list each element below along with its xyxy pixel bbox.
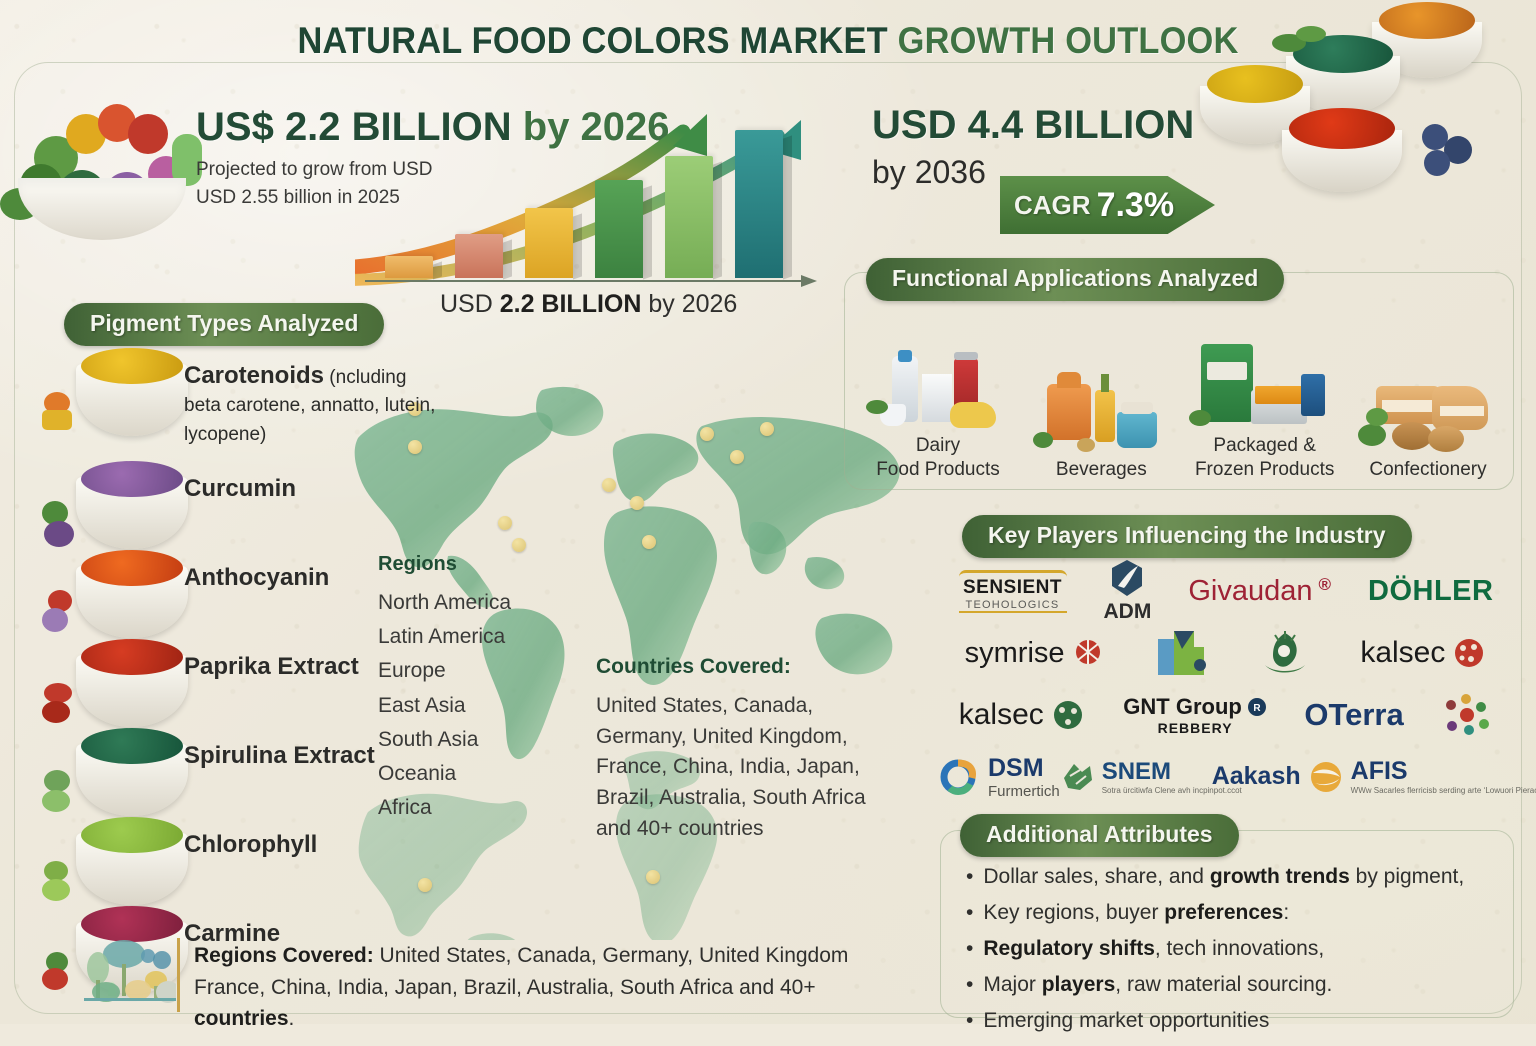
pigment-label: Curcumin [184, 475, 446, 503]
logo-gnt-group: GNT Group R REBBERY [1123, 694, 1267, 736]
attribute-item: • Regulatory shifts, tech innovations, [966, 938, 1506, 959]
bullet-icon: • [966, 1010, 973, 1031]
additional-attributes-header: Additional Attributes [960, 814, 1239, 857]
pigment-bowl [76, 364, 188, 436]
logo-gnt-sub: REBBERY [1158, 720, 1233, 736]
attribute-text: Regulatory shifts, tech innovations, [983, 938, 1324, 959]
logo-adm-name: ADM [1104, 600, 1152, 624]
application-caption: Dairy Food Products [858, 434, 1018, 482]
pigment-bowl [76, 833, 188, 905]
attribute-pre: Major [983, 973, 1041, 996]
logo-dot-cluster [1441, 693, 1493, 737]
chart-caption-suffix: by 2026 [641, 290, 737, 318]
countries-body: United States, Canada, Germany, United K… [596, 691, 906, 844]
application-caption-line2: Food Products [858, 458, 1018, 482]
dot-cluster-icon [1441, 693, 1493, 737]
map-dot [730, 450, 744, 464]
bullet-icon: • [966, 866, 973, 887]
attribute-post: : [1283, 901, 1289, 924]
map-dot [602, 478, 616, 492]
attribute-text: Dollar sales, share, and growth trends b… [983, 866, 1464, 887]
gnt-reg-icon: R [1247, 697, 1267, 717]
stat-right-value: 4.4 BILLION [968, 103, 1195, 147]
pigment-bowl [76, 744, 188, 816]
pigment-name: Paprika Extract [184, 653, 359, 680]
chart-bar [595, 180, 643, 278]
growth-chart [355, 112, 825, 292]
logo-adm: ADM [1104, 558, 1152, 624]
application-item-beverages: Beverages [1021, 342, 1181, 482]
chart-bar [385, 256, 433, 278]
chart-bar [455, 234, 503, 278]
application-caption: Confectionery [1348, 458, 1508, 482]
bullet-icon: • [966, 974, 973, 995]
application-item-packaged: Packaged & Frozen Products [1185, 318, 1345, 482]
regions-covered-line1: Regions Covered: United States, Canada, … [194, 940, 914, 972]
attribute-bold: preferences [1164, 901, 1283, 924]
map-dot [700, 427, 714, 441]
logo-kalsec-name: kalsec [1360, 636, 1445, 670]
key-players-pill-label: Key Players Influencing the Industry [962, 515, 1412, 558]
attribute-text: Emerging market opportunities [983, 1010, 1269, 1031]
pigment-row: Spirulina Extract [36, 738, 436, 827]
chart-bar [665, 156, 713, 278]
regions-covered-line2: France, China, India, Japan, Brazil, Aus… [194, 972, 914, 1035]
pigment-decoration [42, 501, 82, 547]
logo-afis-sub: WWw Sacarles flerricisb serding arte ‘Lo… [1351, 786, 1536, 796]
logo-givaudan-mark: ® [1318, 575, 1331, 595]
map-dot [642, 535, 656, 549]
region-item: Oceania [378, 757, 568, 791]
application-caption: Packaged & Frozen Products [1185, 434, 1345, 482]
key-players-header: Key Players Influencing the Industry [962, 515, 1412, 558]
key-players-grid: SENSIENT TEOHOLOGICS ADM Givaudan ® DÖHL… [940, 560, 1512, 810]
pigment-row: Chlorophyll [36, 827, 436, 916]
pigment-name: Curcumin [184, 475, 296, 502]
regions-covered-line2-bold: countries [194, 1007, 289, 1030]
pigment-types-header: Pigment Types Analyzed [64, 303, 384, 346]
map-dot [646, 870, 660, 884]
page-title-part1: NATURAL FOOD COLORS MARKET [297, 20, 897, 61]
logo-dsm: DSM Furmertich [940, 754, 1060, 800]
beverages-icon [1021, 342, 1181, 452]
logo-oterra: OTerra [1304, 697, 1403, 733]
map-dot [760, 422, 774, 436]
attribute-pre: Key regions, buyer [983, 901, 1164, 924]
application-caption-line2: Frozen Products [1185, 458, 1345, 482]
attribute-pre: Emerging market opportunities [983, 1009, 1269, 1032]
logo-givaudan: Givaudan ® [1188, 575, 1331, 608]
regions-covered-line2-post: . [289, 1007, 295, 1030]
logo-aakash-afis: Aakash AFIS WWw Sacarles flerricisb serd… [1212, 757, 1536, 796]
pigment-row: Paprika Extract [36, 649, 436, 738]
logo-sensient: SENSIENT TEOHOLOGICS [959, 570, 1067, 613]
application-caption-line1: Confectionery [1348, 458, 1508, 482]
pigment-row: Anthocyanin [36, 560, 436, 649]
attribute-post: by pigment, [1350, 865, 1464, 888]
logo-kalsec-bottom: kalsec [959, 698, 1086, 732]
key-players-row: kalsec GNT Group R REBBERY OTerra [940, 684, 1512, 746]
logo-kalsec2-name: kalsec [959, 698, 1044, 732]
attribute-post: , raw material sourcing. [1115, 973, 1332, 996]
pigment-decoration [42, 768, 82, 814]
pigment-bowl [76, 566, 188, 638]
attribute-pre: Dollar sales, share, and [983, 865, 1209, 888]
pigment-name: Spirulina Extract [184, 742, 375, 769]
pigment-decoration [42, 590, 82, 636]
region-item: South Asia [378, 723, 568, 757]
adm-mark-icon [1106, 558, 1148, 598]
key-players-row: SENSIENT TEOHOLOGICS ADM Givaudan ® DÖHL… [940, 560, 1512, 622]
pigment-list: Carotenoids (ncluding beta carotene, ann… [36, 358, 436, 1005]
gnt-mark-icon [1154, 627, 1210, 679]
leaf-emblem-icon [1259, 629, 1311, 677]
logo-gnt-mark [1154, 627, 1210, 679]
pigment-fill [81, 550, 183, 586]
logo-givaudan-name: Givaudan [1188, 575, 1312, 608]
regions-covered-line2-pre: France, China, India, Japan, Brazil, Aus… [194, 976, 816, 999]
region-item: Europe [378, 654, 568, 688]
logo-symrise: symrise [965, 637, 1105, 670]
map-dot [512, 538, 526, 552]
attribute-bold: players [1042, 973, 1116, 996]
logo-dohler: DÖHLER [1368, 575, 1493, 608]
snem-leaf-icon [1060, 760, 1096, 794]
application-caption-line1: Dairy [858, 434, 1018, 458]
logo-aakash-name: Aakash [1212, 762, 1301, 791]
packaged-frozen-icon [1185, 318, 1345, 428]
applications-header: Functional Applications Analyzed [866, 258, 1284, 301]
application-item-confectionery: Confectionery [1348, 342, 1508, 482]
pigment-name: Anthocyanin [184, 564, 329, 591]
chart-caption-prefix: USD [440, 290, 500, 318]
pigment-decoration [42, 388, 82, 434]
application-item-dairy: Dairy Food Products [858, 318, 1018, 482]
pigment-label: Chlorophyll [184, 831, 446, 859]
aakash-globe-icon [1307, 759, 1345, 795]
pigment-row: Carotenoids (ncluding beta carotene, ann… [36, 358, 436, 447]
pigment-fill [81, 461, 183, 497]
pigment-types-pill-label: Pigment Types Analyzed [64, 303, 384, 346]
logo-gnt-name: GNT Group [1123, 694, 1242, 720]
logo-snem-name: SNEM [1102, 758, 1212, 786]
attribute-bold: Regulatory shifts [983, 937, 1155, 960]
stat-right-currency: USD [872, 103, 968, 147]
dsm-mark-icon [940, 756, 982, 798]
key-players-row: symrise kalsec [940, 622, 1512, 684]
logo-leaf-mark [1259, 629, 1311, 677]
logo-oterra-name: OTerra [1304, 697, 1403, 733]
cagr-label: CAGR [1014, 190, 1091, 221]
regions-covered-footer: Regions Covered: United States, Canada, … [84, 938, 914, 1035]
region-item: Latin America [378, 620, 568, 654]
bullet-icon: • [966, 902, 973, 923]
pigment-name: Chlorophyll [184, 831, 317, 858]
pigment-label: Carotenoids (ncluding beta carotene, ann… [184, 362, 446, 447]
logo-snem-sub: Sotra ürcitiwfa Clene avh incpinpot.ccot [1102, 786, 1212, 796]
regions-covered-text: Regions Covered: United States, Canada, … [194, 938, 914, 1035]
region-item: North America [378, 586, 568, 620]
map-dot [630, 496, 644, 510]
additional-attributes-pill-label: Additional Attributes [960, 814, 1239, 857]
confectionery-icon [1348, 342, 1508, 452]
bullet-icon: • [966, 938, 973, 959]
regions-covered-label: Regions Covered: [194, 944, 374, 967]
logo-sensient-name: SENSIENT [963, 577, 1062, 599]
plants-illustration-icon [84, 938, 180, 1012]
kalsec-berry-icon [1451, 636, 1487, 670]
pigment-name: Carotenoids [184, 362, 324, 389]
attribute-bold: growth trends [1210, 865, 1350, 888]
symrise-mark-icon [1071, 638, 1105, 668]
logo-symrise-name: symrise [965, 637, 1065, 670]
pigment-fill [81, 817, 183, 853]
pigment-bowl [76, 655, 188, 727]
kalsec-sphere-icon [1050, 698, 1086, 732]
pigment-decoration [42, 857, 82, 903]
logo-sensient-sub: TEOHOLOGICS [966, 599, 1060, 611]
logo-dsm-name: DSM [988, 754, 1060, 783]
pigment-row: Curcumin [36, 471, 436, 560]
chart-bar [735, 130, 783, 278]
chart-caption: USD 2.2 BILLION by 2026 [440, 290, 840, 319]
attribute-item: • Major players, raw material sourcing. [966, 974, 1506, 995]
logo-dohler-name: DÖHLER [1368, 575, 1493, 608]
logo-dsm-sub: Furmertich [988, 783, 1060, 800]
region-item: Africa [378, 791, 568, 825]
pigment-fill [81, 348, 183, 384]
pigment-fill [81, 728, 183, 764]
logo-afis-name: AFIS [1351, 757, 1536, 786]
attribute-item: • Dollar sales, share, and growth trends… [966, 866, 1506, 887]
attribute-item: • Key regions, buyer preferences: [966, 902, 1506, 923]
attribute-text: Key regions, buyer preferences: [983, 902, 1289, 923]
countries-covered: Countries Covered: United States, Canada… [596, 655, 906, 844]
pigment-decoration [42, 946, 82, 992]
chart-bars [385, 128, 805, 278]
attribute-post: , tech innovations, [1155, 937, 1324, 960]
applications-items: Dairy Food Products Beverages [858, 318, 1508, 482]
map-dot [498, 516, 512, 530]
chart-bar [525, 208, 573, 278]
cagr-value: 7.3% [1097, 186, 1175, 225]
stat-right-headline: USD 4.4 BILLION [872, 104, 1292, 146]
dairy-icon [858, 318, 1018, 428]
logo-snem: SNEM Sotra ürcitiwfa Clene avh incpinpot… [1060, 758, 1212, 796]
stat-left-currency: US$ [196, 105, 285, 149]
plants-icon-svg [84, 938, 176, 1010]
regions-list: Regions North America Latin America Euro… [378, 553, 568, 826]
additional-attributes-list: • Dollar sales, share, and growth trends… [966, 866, 1506, 1046]
logo-kalsec-top: kalsec [1360, 636, 1487, 670]
pigment-fill [81, 906, 183, 942]
regions-heading: Regions [378, 553, 568, 576]
regions-covered-line1-text: United States, Canada, Germany, United K… [374, 944, 849, 967]
pigment-fill [81, 639, 183, 675]
pigment-decoration [42, 679, 82, 725]
attribute-text: Major players, raw material sourcing. [983, 974, 1332, 995]
key-players-row: DSM Furmertich SNEM Sotra ürcitiwfa Clen… [940, 746, 1512, 808]
applications-pill-label: Functional Applications Analyzed [866, 258, 1284, 301]
countries-heading: Countries Covered: [596, 655, 906, 679]
application-caption-line1: Beverages [1021, 458, 1181, 482]
produce-bowl-illustration [0, 78, 210, 248]
pigment-bowl [76, 477, 188, 549]
attribute-item: • Emerging market opportunities [966, 1010, 1506, 1031]
region-item: East Asia [378, 689, 568, 723]
application-caption-line1: Packaged & [1185, 434, 1345, 458]
application-caption: Beverages [1021, 458, 1181, 482]
svg-text:R: R [1253, 703, 1261, 714]
chart-caption-value: 2.2 BILLION [500, 290, 642, 318]
